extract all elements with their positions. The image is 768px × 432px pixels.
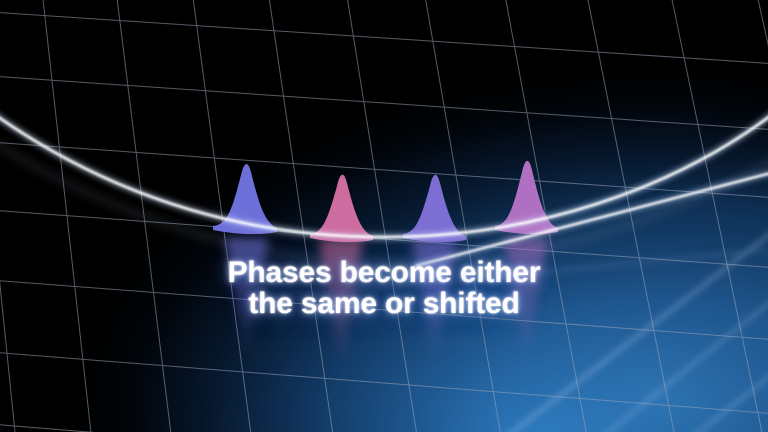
animation-frame: Phases become either the same or shifted xyxy=(0,0,768,432)
scene-canvas xyxy=(0,0,768,432)
